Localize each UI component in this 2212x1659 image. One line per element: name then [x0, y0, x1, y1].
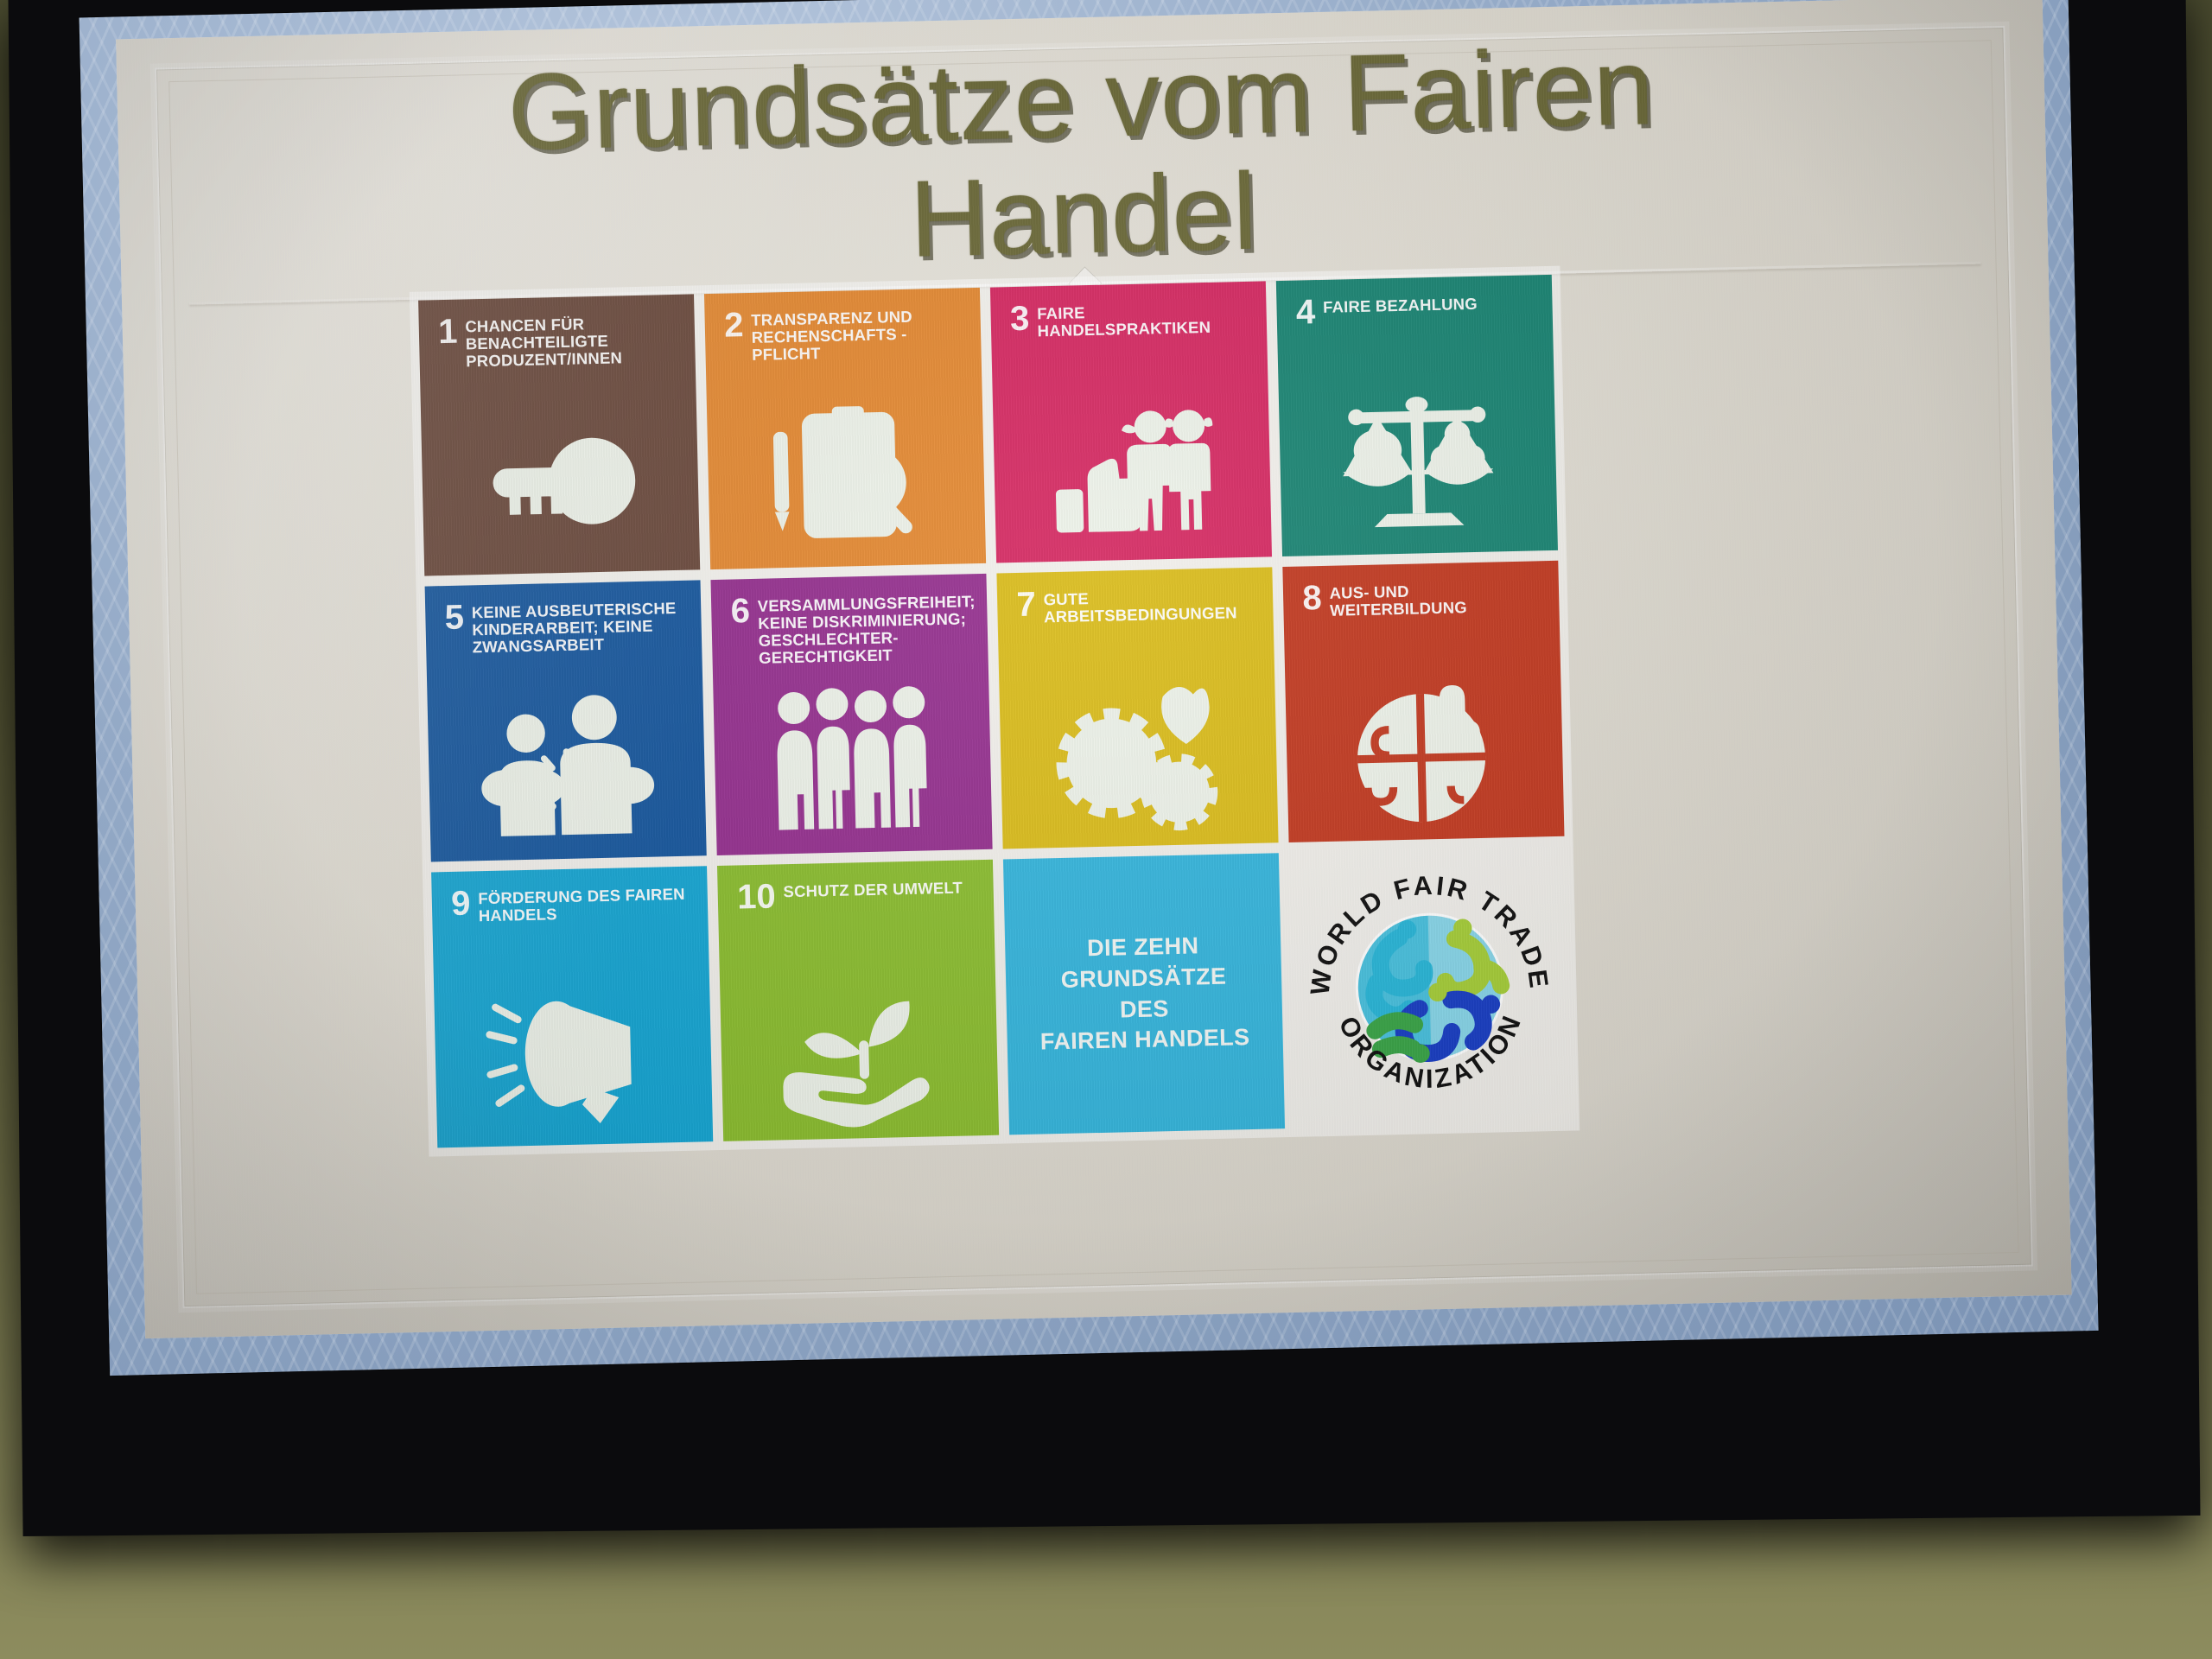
- principle-header: 8 Aus- und Weiterbildung: [1302, 577, 1548, 620]
- summary-line: Die zehn: [1038, 930, 1248, 965]
- principle-number: 3: [1010, 303, 1030, 335]
- key-icon: [421, 399, 700, 565]
- projection-screen-bezel: Grundsätze vom Fairen Handel 1 Chancen f…: [9, 0, 2201, 1536]
- principle-tile-3: 3 Faire Handelspraktiken: [990, 281, 1272, 563]
- principle-tile-5: 5 Keine ausbeuterische Kinderarbeit; kei…: [425, 580, 707, 861]
- principle-tile-6: 6 Versammlungsfreiheit; keine Diskrimini…: [710, 574, 992, 855]
- principle-label: Gute Arbeitsbedingungen: [1043, 584, 1262, 626]
- slide-title-block: Grundsätze vom Fairen Handel: [194, 22, 1971, 293]
- principle-header: 3 Faire Handelspraktiken: [1010, 298, 1256, 340]
- principle-number: 1: [438, 316, 458, 348]
- principle-header: 1 Chancen für benachteiligte Produzent/i…: [438, 311, 684, 371]
- principle-header: 2 Transparenz und Rechenschafts - pflich…: [724, 304, 970, 364]
- principle-tile-4: 4 Faire Bezahlung $: [1276, 275, 1558, 556]
- clipboard-magnifier-icon: [707, 392, 986, 558]
- principle-label: Förderung des Fairen Handels: [478, 883, 697, 925]
- thumbs-up-people-icon: [993, 386, 1272, 552]
- principle-number: 10: [737, 881, 776, 914]
- principle-number: 5: [444, 602, 464, 634]
- principle-label: Aus- und Weiterbildung: [1329, 577, 1548, 620]
- principle-label: Faire Handelspraktiken: [1037, 298, 1256, 340]
- summary-line: Grundsätze: [1039, 961, 1249, 996]
- principle-tile-2: 2 Transparenz und Rechenschafts - pflich…: [704, 288, 986, 569]
- balance-scale-icon: $: [1279, 379, 1558, 545]
- principle-label: Schutz der Umwelt: [783, 877, 963, 901]
- principle-number: 6: [730, 595, 750, 627]
- summary-text-tile: Die zehnGrundsätzedesFairen Handels: [1003, 853, 1285, 1135]
- principle-header: 9 Förderung des Fairen Handels: [451, 883, 697, 925]
- projection-photo-scene: Grundsätze vom Fairen Handel 1 Chancen f…: [0, 0, 2212, 1659]
- principle-tile-10: 10 Schutz der Umwelt: [717, 860, 999, 1141]
- principle-number: 8: [1302, 582, 1322, 614]
- principle-label: Versammlungsfreiheit; keine Diskriminier…: [757, 590, 976, 667]
- principle-header: 4 Faire Bezahlung: [1296, 291, 1542, 328]
- slide-outer-border: Grundsätze vom Fairen Handel 1 Chancen f…: [79, 0, 2099, 1376]
- megaphone-icon: [434, 970, 713, 1136]
- principle-tile-1: 1 Chancen für benachteiligte Produzent/i…: [418, 294, 700, 575]
- puzzle-circle-icon: [1285, 665, 1564, 831]
- principle-number: 9: [451, 888, 471, 920]
- principle-number: 2: [724, 309, 744, 341]
- summary-line: Fairen Handels: [1040, 1022, 1250, 1058]
- summary-line: des: [1039, 992, 1249, 1027]
- principle-header: 7 Gute Arbeitsbedingungen: [1016, 584, 1262, 626]
- fair-trade-principles-grid: 1 Chancen für benachteiligte Produzent/i…: [410, 266, 1580, 1157]
- principle-tile-7: 7 Gute Arbeitsbedingungen: [996, 567, 1278, 849]
- gears-heart-icon: [999, 672, 1278, 838]
- principle-number: 7: [1016, 589, 1036, 621]
- wfto-logo-svg: WORLD FAIR TRADE ORGANIZATION: [1294, 852, 1565, 1122]
- principle-label: Transparenz und Rechenschafts - pflicht: [751, 304, 970, 364]
- principle-header: 5 Keine ausbeuterische Kinderarbeit; kei…: [444, 597, 690, 657]
- presentation-slide: Grundsätze vom Fairen Handel 1 Chancen f…: [116, 0, 2072, 1338]
- broken-chain-people-icon: [427, 685, 706, 851]
- world-fair-trade-organization-logo: WORLD FAIR TRADE ORGANIZATION: [1289, 847, 1571, 1128]
- summary-text: Die zehnGrundsätzedesFairen Handels: [1033, 930, 1255, 1058]
- principle-label: Keine ausbeuterische Kinderarbeit; keine…: [472, 597, 691, 657]
- svg-text:$: $: [1367, 429, 1389, 473]
- principle-tile-9: 9 Förderung des Fairen Handels: [431, 866, 713, 1147]
- principle-number: 4: [1296, 296, 1316, 328]
- principle-header: 10 Schutz der Umwelt: [737, 876, 983, 913]
- principle-label: Faire Bezahlung: [1323, 293, 1478, 316]
- hand-sprout-icon: [720, 964, 999, 1130]
- four-people-icon: [713, 678, 992, 844]
- principle-label: Chancen für benachteiligte Produzent/inn…: [465, 311, 684, 371]
- principle-tile-8: 8 Aus- und Weiterbildung: [1282, 561, 1564, 842]
- principle-header: 6 Versammlungsfreiheit; keine Diskrimini…: [730, 590, 977, 667]
